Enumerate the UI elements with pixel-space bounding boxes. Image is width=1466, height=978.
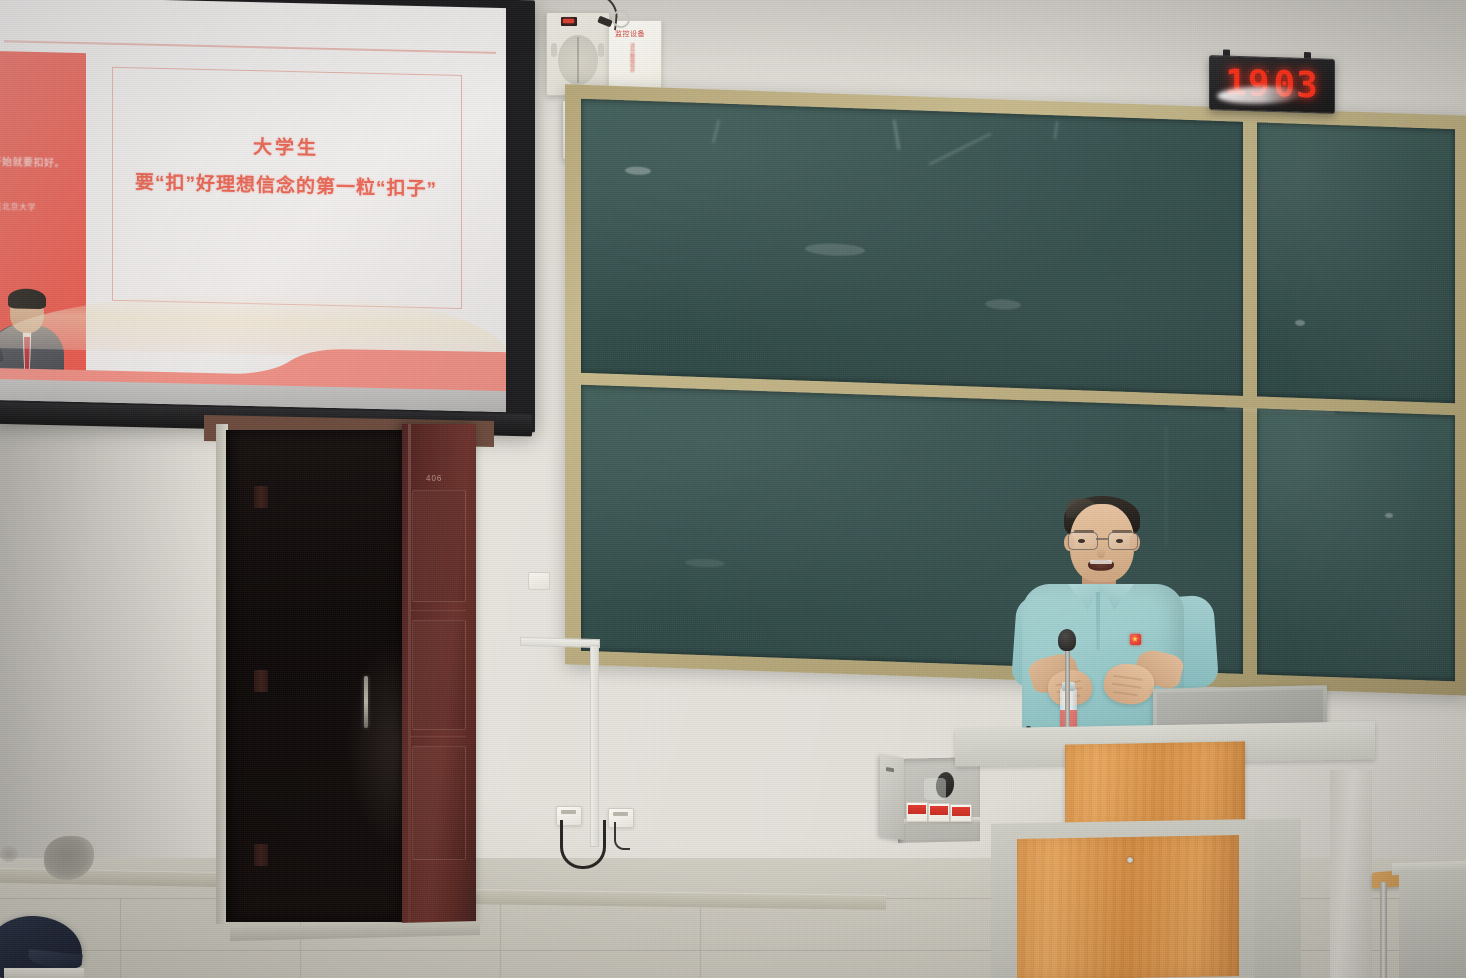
party-emblem-pin — [1130, 634, 1141, 645]
power-cable-loop — [560, 820, 606, 869]
slide-left-caption: 子从一开始就要扣好。 — [0, 152, 80, 170]
blackboard-panel-top-left — [581, 99, 1243, 396]
classroom-photo: 子从一开始就要扣好。 习近平在北京大学 新华社 大学生 要“扣”好理想信念的第一… — [0, 0, 1466, 978]
cabinet-chalk-box-2 — [928, 803, 950, 822]
slide-top-rule — [4, 40, 496, 54]
presentation-slide: 子从一开始就要扣好。 习近平在北京大学 新华社 大学生 要“扣”好理想信念的第一… — [0, 0, 506, 412]
clock-colon-icon — [1266, 70, 1271, 75]
classroom-door[interactable]: 406 — [216, 424, 474, 930]
lectern-upper-wood-panel — [1065, 741, 1245, 830]
lectern-side-column — [1255, 821, 1301, 978]
wall-damage-patch-small — [0, 846, 18, 862]
lectern — [955, 725, 1375, 978]
microphone-stand — [1065, 647, 1070, 733]
cabinet-chalk-box-1 — [906, 802, 928, 822]
lectern-lock[interactable] — [1127, 857, 1133, 863]
cabinet-item-bag — [924, 778, 946, 800]
attendee-paper — [4, 968, 84, 978]
cabinet-latch[interactable] — [886, 767, 894, 772]
student-desk — [1399, 870, 1466, 978]
blackboard-panel-bottom-right — [1257, 408, 1455, 681]
clock-time-display: 19 03 — [1209, 55, 1335, 114]
cabinet-door[interactable] — [880, 754, 904, 840]
cable-conduit-vertical — [590, 645, 599, 847]
door-room-number: 406 — [426, 474, 442, 483]
screen-surface: 子从一开始就要扣好。 习近平在北京大学 新华社 大学生 要“扣”好理想信念的第一… — [0, 0, 506, 412]
digital-wall-clock: 19 03 — [1209, 55, 1335, 114]
microphone — [1058, 629, 1076, 651]
cable-ring — [612, 10, 630, 28]
speaker-grille — [558, 35, 598, 85]
slide-left-source: 习近平在北京大学 — [0, 200, 88, 214]
projection-screen[interactable]: 子从一开始就要扣好。 习近平在北京大学 新华社 大学生 要“扣”好理想信念的第一… — [0, 0, 535, 426]
blackboard-panel-top-right — [1257, 122, 1455, 403]
light-switch[interactable] — [528, 572, 550, 590]
door-leaf[interactable]: 406 — [402, 424, 476, 924]
door-handle[interactable] — [364, 676, 368, 728]
notice-sign-title: 监控设备 — [615, 29, 645, 39]
power-cable-short — [614, 822, 630, 850]
notice-sign-subtitle: 请勿触碰损坏 — [628, 43, 635, 73]
